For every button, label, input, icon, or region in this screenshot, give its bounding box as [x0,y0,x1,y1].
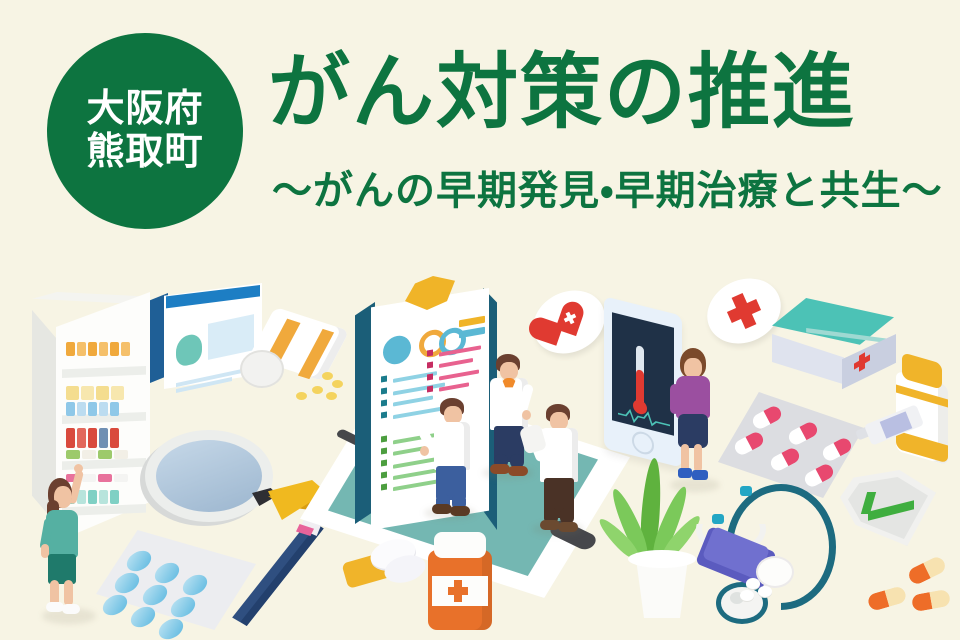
badge-line-town: 熊取町 [86,131,203,174]
municipality-badge: 大阪府 熊取町 [47,33,243,229]
spilled-pill-bottle-icon [238,306,358,406]
shield-check-icon [840,470,936,550]
poster-canvas: 大阪府 熊取町 がん対策の推進 〜がんの早期発見・早期治療と共生〜 [0,0,960,640]
heart-badge-icon [532,292,606,354]
medicine-bottle-orange-icon [424,532,498,634]
first-aid-box-icon [772,298,894,402]
red-cross-badge-icon [706,280,782,344]
pill-tube-purple-icon [700,528,804,602]
syringe-icon [856,398,952,468]
badge-line-prefecture: 大阪府 [86,88,203,131]
woman-teal-figure [36,466,106,626]
page-title: がん対策の推進 [268,50,928,136]
capsules-orange-icon [856,548,960,628]
doctor-left-figure [424,398,480,520]
doctor-center-figure [482,354,538,482]
doctor-right-figure [532,404,588,538]
page-subtitle: 〜がんの早期発見・早期治療と共生〜 [272,158,932,216]
